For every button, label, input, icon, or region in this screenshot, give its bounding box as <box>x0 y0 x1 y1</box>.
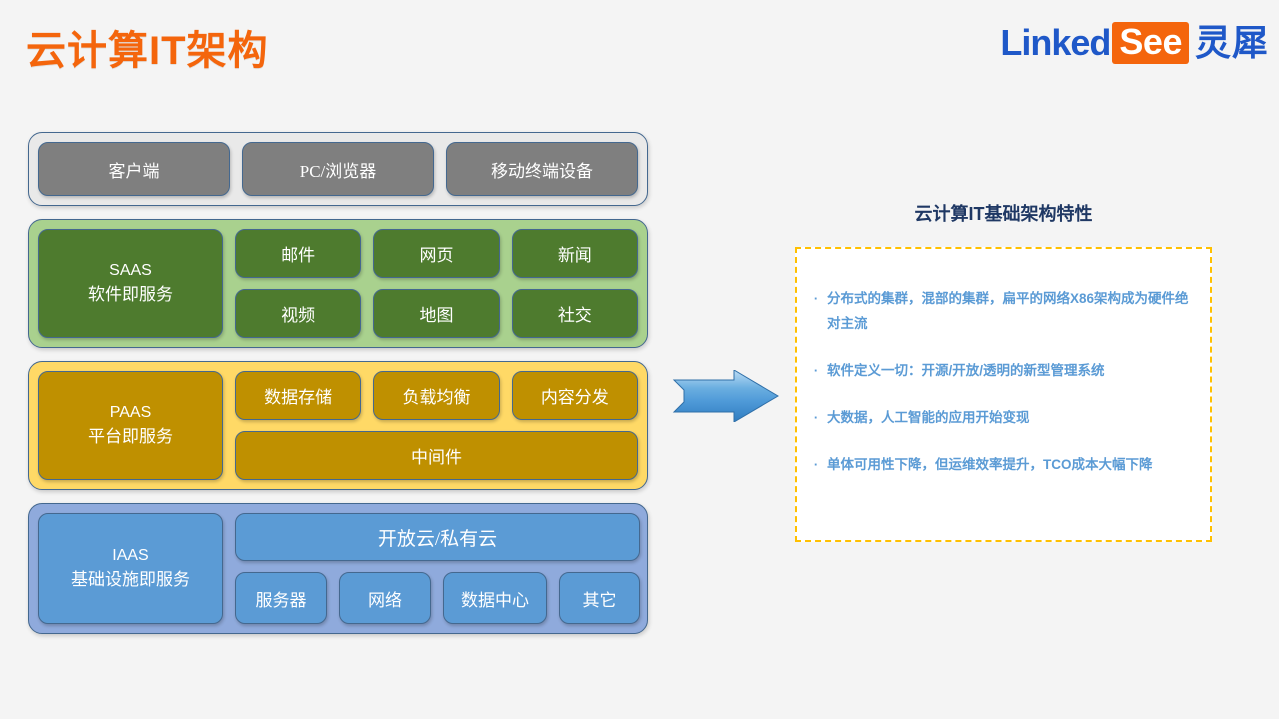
saas-grid: 邮件 网页 新闻 视频 地图 社交 <box>235 229 638 338</box>
features-panel: 云计算IT基础架构特性 · 分布式的集群，混部的集群，扁平的网络X86架构成为硬… <box>795 200 1212 542</box>
client-box-row: 客户端 PC/浏览器 移动终端设备 <box>38 142 638 196</box>
right-arrow-icon <box>672 370 782 422</box>
iaas-row-2: 服务器 网络 数据中心 其它 <box>235 572 640 624</box>
brand-logo: Linked See 灵犀 <box>1000 22 1269 64</box>
saas-row-2: 视频 地图 社交 <box>235 289 638 338</box>
iaas-box-3[interactable]: 其它 <box>559 572 640 624</box>
feature-text-3: 单体可用性下降，但运维效率提升，TCO成本大幅下降 <box>827 453 1196 478</box>
features-title: 云计算IT基础架构特性 <box>795 200 1212 226</box>
feature-bullet-3: · 单体可用性下降，但运维效率提升，TCO成本大幅下降 <box>805 453 1196 478</box>
iaas-row-1: 开放云/私有云 <box>235 513 640 561</box>
layer-saas: SAAS 软件即服务 邮件 网页 新闻 视频 地图 社交 <box>28 219 648 348</box>
saas-box-0[interactable]: 邮件 <box>235 229 361 278</box>
iaas-grid: 开放云/私有云 服务器 网络 数据中心 其它 <box>235 513 640 624</box>
bullet-marker-icon: · <box>805 359 827 384</box>
saas-box-5[interactable]: 社交 <box>512 289 638 338</box>
saas-label-en: SAAS <box>109 260 152 282</box>
feature-text-0: 分布式的集群，混部的集群，扁平的网络X86架构成为硬件绝对主流 <box>827 287 1196 337</box>
paas-box-2[interactable]: 内容分发 <box>512 371 638 420</box>
saas-label-box[interactable]: SAAS 软件即服务 <box>38 229 223 338</box>
paas-box-0[interactable]: 数据存储 <box>235 371 361 420</box>
paas-box-1[interactable]: 负载均衡 <box>373 371 499 420</box>
iaas-label-cn: 基础设施即服务 <box>71 569 190 592</box>
paas-body: PAAS 平台即服务 数据存储 负载均衡 内容分发 中间件 <box>38 371 638 480</box>
paas-middleware-box[interactable]: 中间件 <box>235 431 638 480</box>
saas-label-cn: 软件即服务 <box>88 284 173 307</box>
paas-grid: 数据存储 负载均衡 内容分发 中间件 <box>235 371 638 480</box>
saas-row-1: 邮件 网页 新闻 <box>235 229 638 278</box>
layer-iaas: IAAS 基础设施即服务 开放云/私有云 服务器 网络 数据中心 其它 <box>28 503 648 634</box>
layer-paas: PAAS 平台即服务 数据存储 负载均衡 内容分发 中间件 <box>28 361 648 490</box>
saas-box-2[interactable]: 新闻 <box>512 229 638 278</box>
feature-bullet-1: · 软件定义一切：开源/开放/透明的新型管理系统 <box>805 359 1196 384</box>
feature-text-1: 软件定义一切：开源/开放/透明的新型管理系统 <box>827 359 1196 384</box>
iaas-body: IAAS 基础设施即服务 开放云/私有云 服务器 网络 数据中心 其它 <box>38 513 638 624</box>
bullet-marker-icon: · <box>805 406 827 431</box>
feature-bullet-2: · 大数据，人工智能的应用开始变现 <box>805 406 1196 431</box>
client-box-2[interactable]: 移动终端设备 <box>446 142 638 196</box>
iaas-cloud-box[interactable]: 开放云/私有云 <box>235 513 640 561</box>
feature-bullet-0: · 分布式的集群，混部的集群，扁平的网络X86架构成为硬件绝对主流 <box>805 287 1196 337</box>
logo-text-see: See <box>1112 22 1189 64</box>
layer-client: 客户端 PC/浏览器 移动终端设备 <box>28 132 648 206</box>
features-dashed-box: · 分布式的集群，混部的集群，扁平的网络X86架构成为硬件绝对主流 · 软件定义… <box>795 247 1212 542</box>
paas-label-cn: 平台即服务 <box>88 426 173 449</box>
iaas-label-en: IAAS <box>112 545 148 567</box>
architecture-stack: 客户端 PC/浏览器 移动终端设备 SAAS 软件即服务 邮件 网页 新闻 <box>28 132 648 647</box>
iaas-box-2[interactable]: 数据中心 <box>443 572 547 624</box>
saas-box-4[interactable]: 地图 <box>373 289 499 338</box>
logo-text-linked: Linked <box>1000 25 1110 61</box>
iaas-label-box[interactable]: IAAS 基础设施即服务 <box>38 513 223 624</box>
slide-canvas: 云计算IT架构 Linked See 灵犀 客户端 PC/浏览器 移动终端设备 … <box>0 0 1279 719</box>
iaas-box-0[interactable]: 服务器 <box>235 572 327 624</box>
paas-label-en: PAAS <box>110 402 152 424</box>
client-box-1[interactable]: PC/浏览器 <box>242 142 434 196</box>
paas-row-1: 数据存储 负载均衡 内容分发 <box>235 371 638 420</box>
bullet-marker-icon: · <box>805 287 827 337</box>
saas-box-1[interactable]: 网页 <box>373 229 499 278</box>
bullet-marker-icon: · <box>805 453 827 478</box>
logo-text-chinese: 灵犀 <box>1195 25 1269 61</box>
page-title: 云计算IT架构 <box>26 18 269 76</box>
saas-body: SAAS 软件即服务 邮件 网页 新闻 视频 地图 社交 <box>38 229 638 338</box>
paas-row-2: 中间件 <box>235 431 638 480</box>
iaas-box-1[interactable]: 网络 <box>339 572 431 624</box>
client-box-0[interactable]: 客户端 <box>38 142 230 196</box>
saas-box-3[interactable]: 视频 <box>235 289 361 338</box>
paas-label-box[interactable]: PAAS 平台即服务 <box>38 371 223 480</box>
feature-text-2: 大数据，人工智能的应用开始变现 <box>827 406 1196 431</box>
